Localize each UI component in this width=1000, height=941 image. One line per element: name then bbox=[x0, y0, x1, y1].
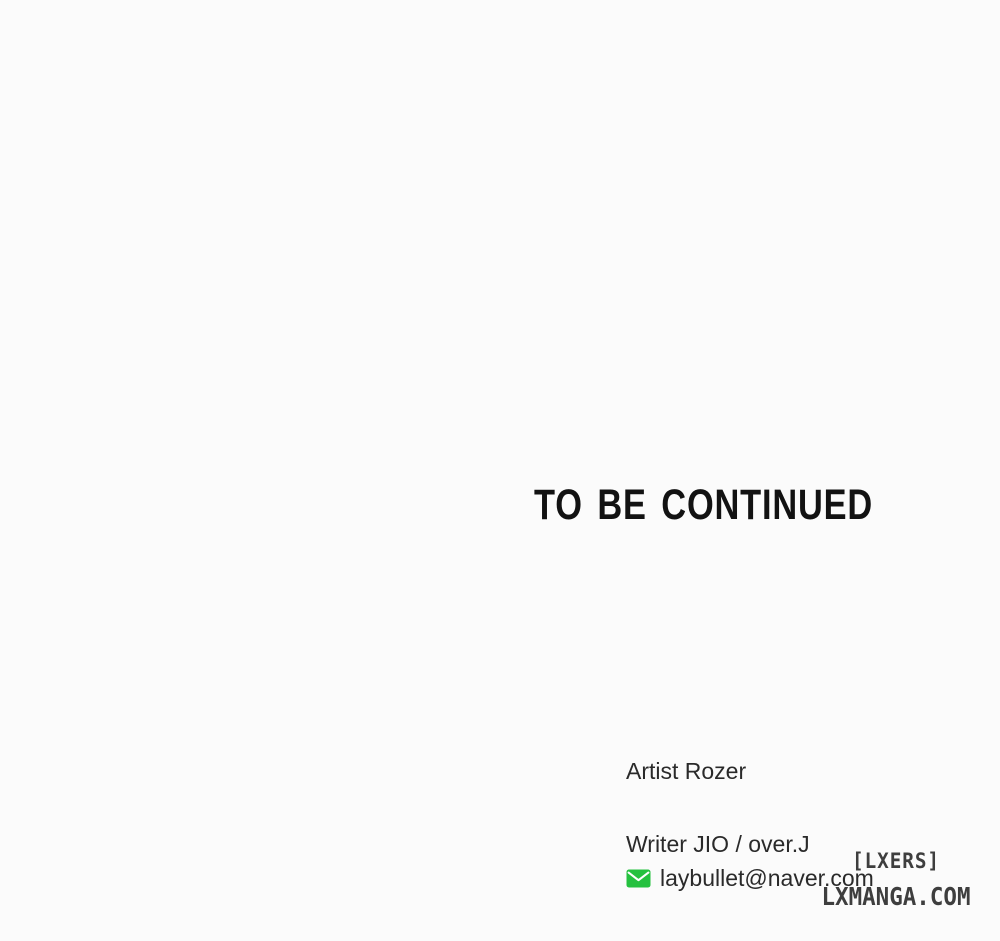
credits-block: Artist Rozer Writer JIO / over.J laybull… bbox=[626, 756, 874, 893]
envelope-icon bbox=[626, 869, 651, 888]
credit-email-row: laybullet@naver.com bbox=[626, 863, 874, 893]
credit-artist: Artist Rozer bbox=[626, 756, 874, 786]
credit-email-address: laybullet@naver.com bbox=[660, 863, 874, 893]
credit-writer: Writer JIO / over.J bbox=[626, 829, 874, 859]
comic-end-page: To be continued Artist Rozer Writer JIO … bbox=[0, 0, 1000, 941]
to-be-continued-headline: To be continued bbox=[534, 464, 883, 542]
